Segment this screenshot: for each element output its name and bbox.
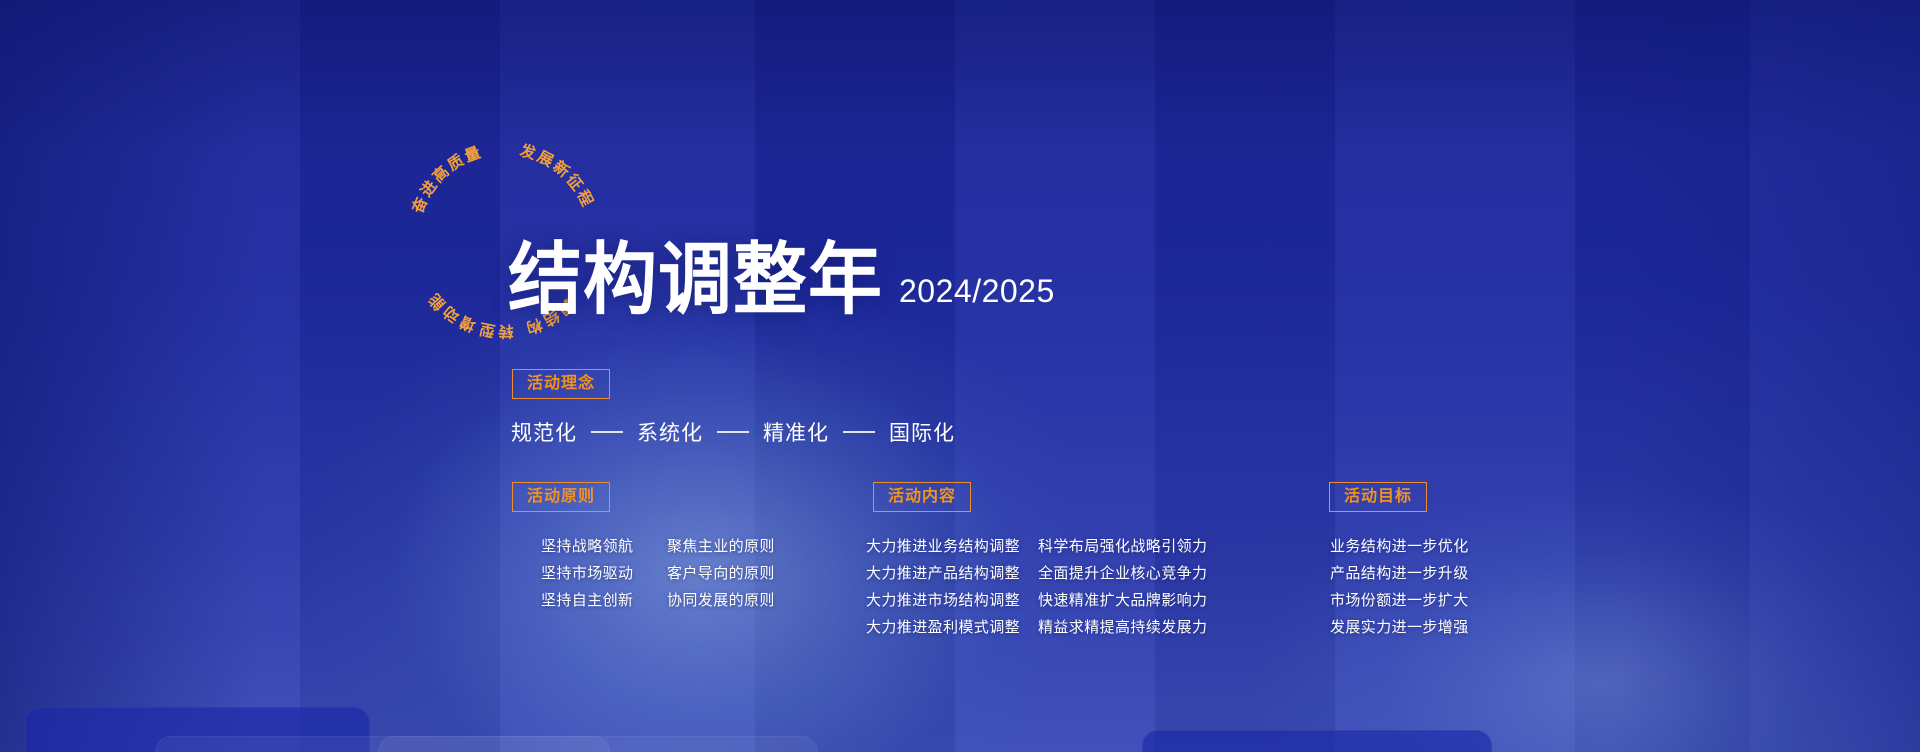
- badge-goals[interactable]: 活动目标: [1329, 482, 1427, 512]
- badge-goals-label: 活动目标: [1344, 489, 1412, 505]
- principles-row-0-right: 聚焦主业的原则: [667, 533, 775, 560]
- concept-separator-2: [843, 431, 875, 433]
- contents-row-3-left: 大力推进盈利模式调整: [866, 614, 1038, 641]
- list-item: 大力推进产品结构调整 全面提升企业核心竞争力: [866, 560, 1207, 587]
- contents-row-0-right: 科学布局强化战略引领力: [1038, 533, 1207, 560]
- concept-separator-0: [591, 431, 623, 433]
- ring-text-top2-path: 发展新征程: [517, 140, 597, 211]
- ring-text-top-2: 发展新征程: [517, 140, 597, 211]
- list-item: 坚持市场驱动 客户导向的原则: [541, 560, 775, 587]
- principles-row-2-right: 协同发展的原则: [667, 587, 775, 614]
- concept-separator-1: [717, 431, 749, 433]
- concept-item-0: 规范化: [511, 417, 577, 447]
- list-item: 大力推进业务结构调整 科学布局强化战略引领力: [866, 533, 1207, 560]
- badge-contents[interactable]: 活动内容: [873, 482, 971, 512]
- principles-row-1-left: 坚持市场驱动: [541, 560, 667, 587]
- page-title: 结构调整年: [508, 243, 883, 318]
- principles-row-0-left: 坚持战略领航: [541, 533, 667, 560]
- list-item: 业务结构进一步优化: [1330, 533, 1469, 560]
- ring-text-top: 奋进高质量: [407, 143, 485, 217]
- principles-row-1-right: 客户导向的原则: [667, 560, 775, 587]
- banner-root: 奋进高质量 发展新征程 调结构 转型 增动能 结构调整年 2024/2025: [0, 0, 1920, 752]
- list-item: 大力推进市场结构调整 快速精准扩大品牌影响力: [866, 587, 1207, 614]
- contents-row-1-right: 全面提升企业核心竞争力: [1038, 560, 1207, 587]
- concept-item-2: 精准化: [763, 417, 829, 447]
- list-item: 坚持战略领航 聚焦主业的原则: [541, 533, 775, 560]
- list-item: 发展实力进一步增强: [1330, 614, 1469, 641]
- title-year: 2024/2025: [899, 273, 1055, 317]
- badge-principles-label: 活动原则: [527, 489, 595, 505]
- ring-text-top-path: 奋进高质量: [407, 143, 485, 217]
- title-row: 结构调整年 2024/2025: [508, 247, 1055, 317]
- contents-row-0-left: 大力推进业务结构调整: [866, 533, 1038, 560]
- badge-contents-label: 活动内容: [888, 489, 956, 505]
- badge-concept[interactable]: 活动理念: [512, 369, 610, 399]
- list-item: 大力推进盈利模式调整 精益求精提高持续发展力: [866, 614, 1207, 641]
- ring-text-bottom-3: 增动能: [423, 288, 478, 335]
- badge-principles[interactable]: 活动原则: [512, 482, 610, 512]
- badge-concept-label: 活动理念: [527, 376, 595, 392]
- concept-list: 规范化 系统化 精准化 国际化: [511, 417, 955, 447]
- principles-list: 坚持战略领航 聚焦主业的原则 坚持市场驱动 客户导向的原则 坚持自主创新 协同发…: [541, 533, 775, 614]
- contents-row-2-right: 快速精准扩大品牌影响力: [1038, 587, 1207, 614]
- list-item: 市场份额进一步扩大: [1330, 587, 1469, 614]
- contents-list: 大力推进业务结构调整 科学布局强化战略引领力 大力推进产品结构调整 全面提升企业…: [866, 533, 1207, 641]
- contents-row-1-left: 大力推进产品结构调整: [866, 560, 1038, 587]
- goals-list: 业务结构进一步优化 产品结构进一步升级 市场份额进一步扩大 发展实力进一步增强: [1330, 533, 1469, 641]
- banner-content: 奋进高质量 发展新征程 调结构 转型 增动能 结构调整年 2024/2025: [0, 0, 1920, 752]
- concept-item-1: 系统化: [637, 417, 703, 447]
- contents-row-3-right: 精益求精提高持续发展力: [1038, 614, 1207, 641]
- concept-item-3: 国际化: [889, 417, 955, 447]
- list-item: 坚持自主创新 协同发展的原则: [541, 587, 775, 614]
- principles-row-2-left: 坚持自主创新: [541, 587, 667, 614]
- ring-text-bottom3-path: 增动能: [423, 288, 478, 335]
- contents-row-2-left: 大力推进市场结构调整: [866, 587, 1038, 614]
- list-item: 产品结构进一步升级: [1330, 560, 1469, 587]
